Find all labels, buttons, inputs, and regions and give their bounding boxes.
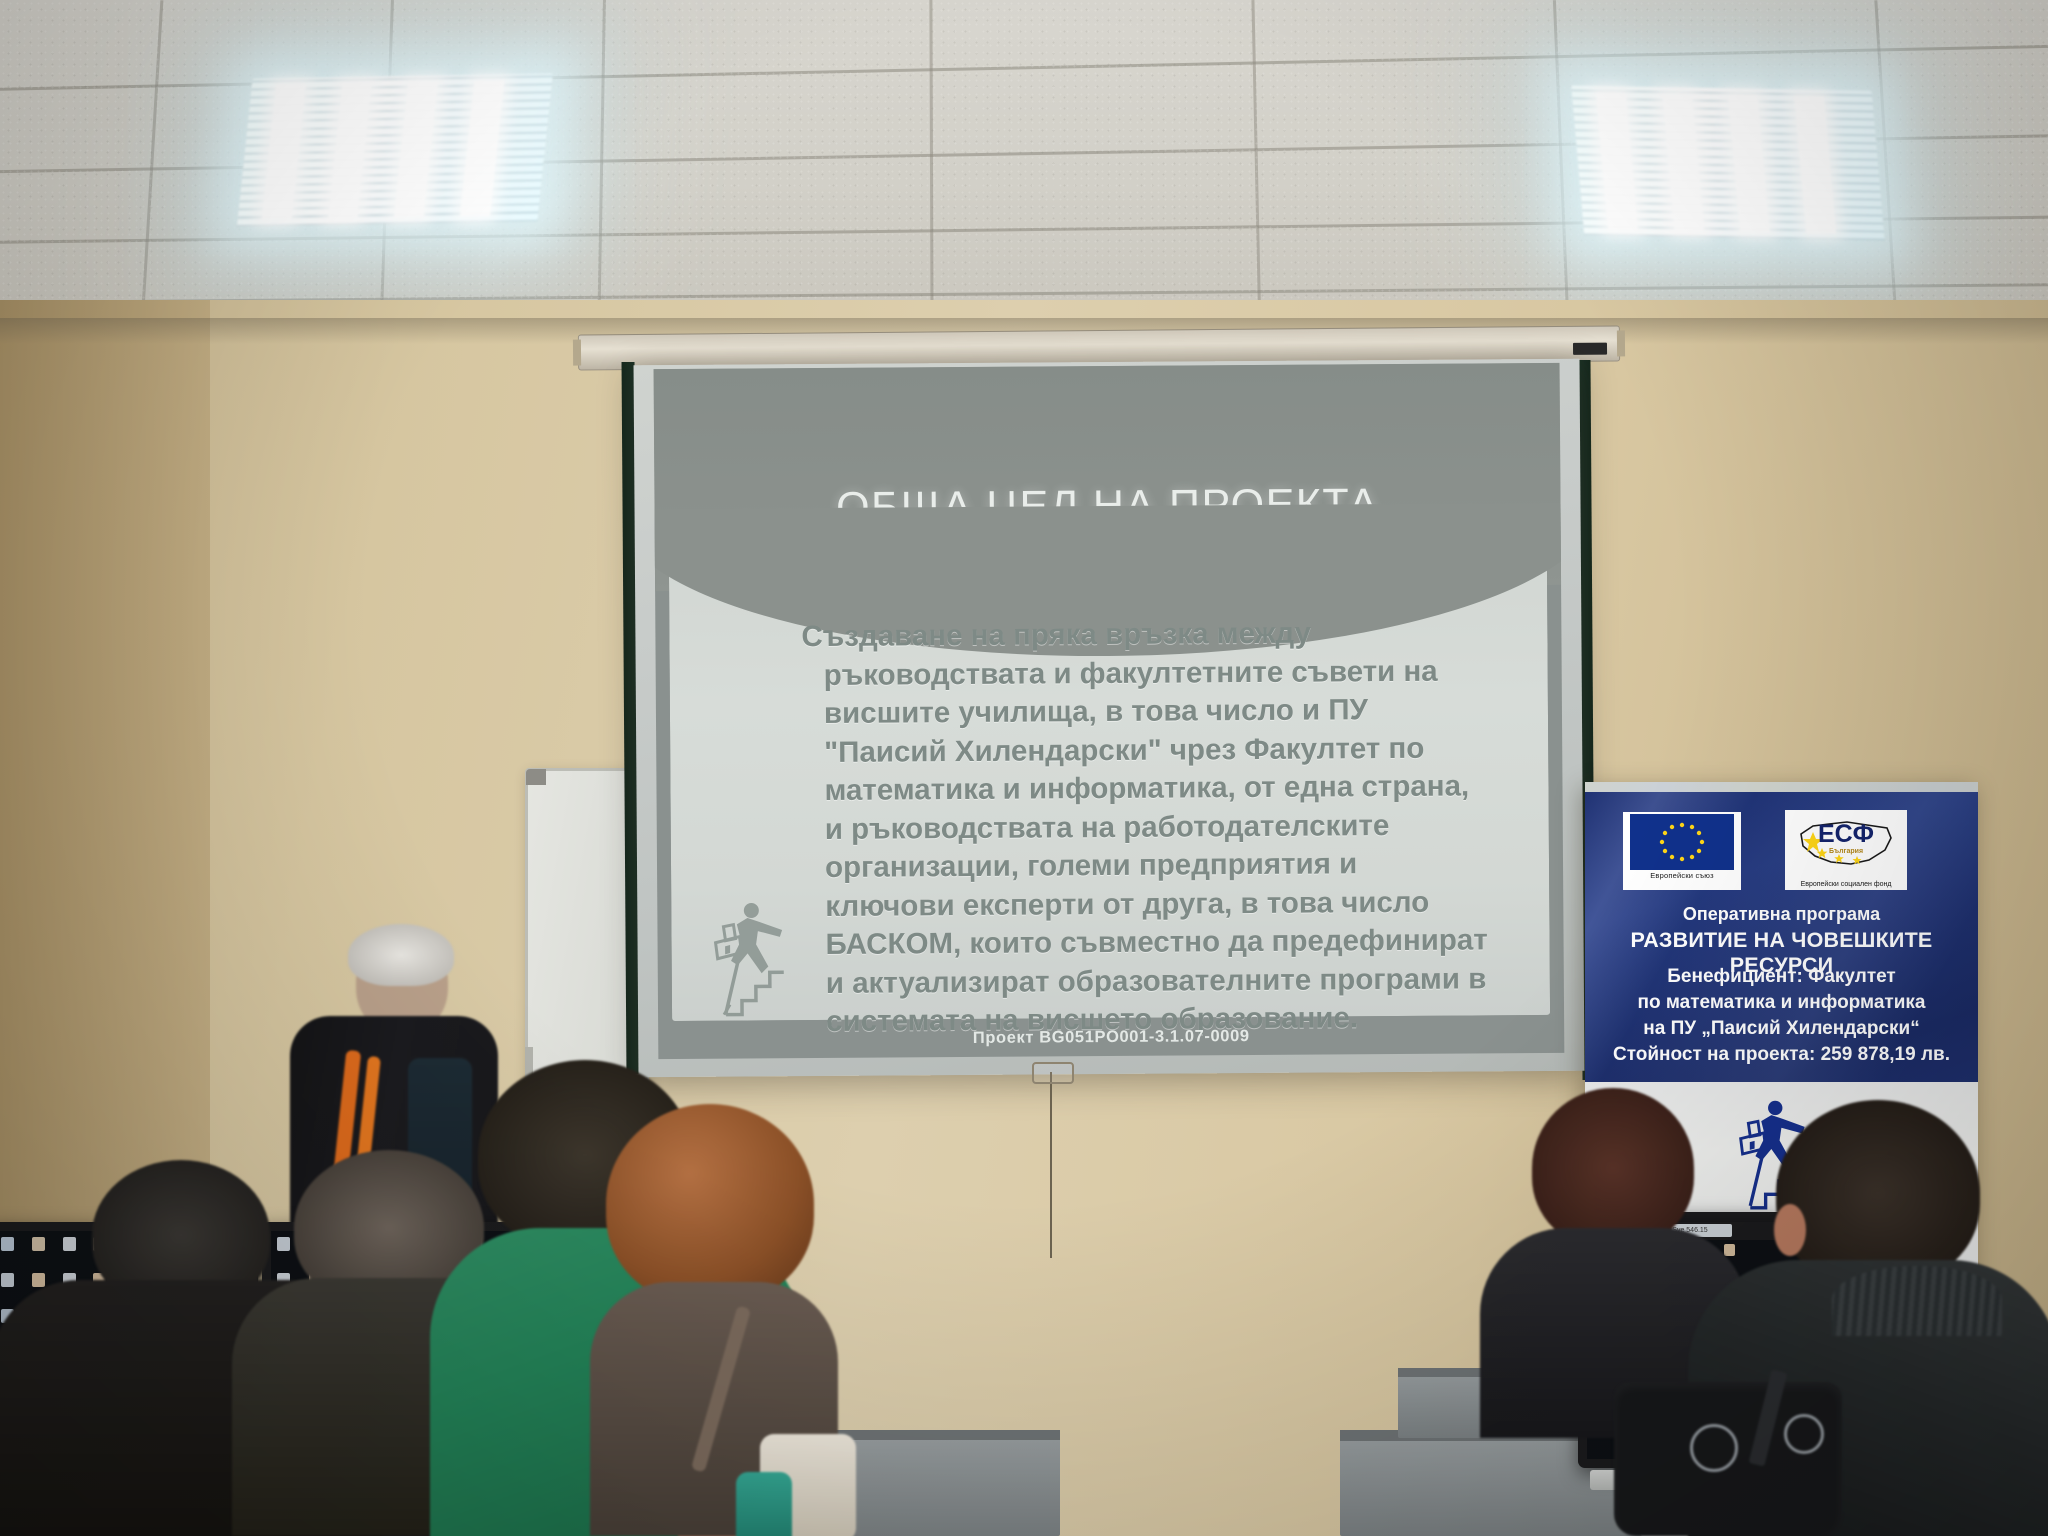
slide-line: "Паисий Хилендарски" чрез Факултет по [824, 729, 1536, 772]
projection-screen: ОБЩА ЦЕЛ НА ПРОЕКТА Създаване на пряка в… [634, 359, 1585, 1078]
esf-caption: Европейски социален фонд [1785, 881, 1907, 888]
slide-line: и актуализират образователните програми … [826, 960, 1538, 1003]
hrd-stairs-person-logo [707, 900, 808, 1017]
banner-program-label: Оперативна програма [1585, 904, 1978, 925]
whiteboard-corner [526, 769, 546, 785]
attendee-right-front-ear [1774, 1204, 1806, 1256]
attendee-right-front-head [1776, 1100, 1980, 1286]
ceiling-light-left [237, 73, 553, 226]
attendee-right-back-head [1532, 1088, 1694, 1248]
slide-line: и ръководствата на работодателските [825, 806, 1537, 849]
screen-pull-cord[interactable] [1050, 1072, 1052, 1258]
bag-ring [1784, 1414, 1824, 1454]
slide-line: ръководствата и факултетните съвети на [824, 652, 1536, 695]
attendee-right-front-collar [1832, 1266, 2002, 1336]
lecture-room-photo: ОБЩА ЦЕЛ НА ПРОЕКТА Създаване на пряка в… [0, 0, 2048, 1536]
eu-flag-field [1630, 814, 1734, 870]
roller-brand-label [1573, 343, 1607, 355]
ceiling [0, 0, 2048, 330]
roller-bracket-right [1617, 330, 1625, 356]
slide-line: висшите училища, в това число и ПУ [824, 690, 1536, 733]
esf-acronym: ЕСФ [1785, 820, 1907, 849]
slide-line: математика и информатика, от една страна… [824, 767, 1536, 810]
esf-logo: ЕСФ България Европейски социален фонд [1785, 810, 1907, 890]
slide-line: организации, големи предприятия и [825, 844, 1537, 887]
attendee-curly-red-hair-head [606, 1104, 814, 1304]
attendee-curly-red-hair [596, 1104, 846, 1536]
esf-subtitle: България [1785, 848, 1907, 855]
slide-line: Създаване на пряка връзка между [801, 613, 1535, 657]
attendee-teal-pouch [736, 1472, 792, 1536]
screen-pull-handle[interactable] [1032, 1062, 1074, 1084]
slide-footer-code: Проект BG051PO001-3.1.07-0009 [658, 1025, 1564, 1050]
banner-project-value: Стойност на проекта: 259 878,19 лв. [1585, 1044, 1978, 1066]
eu-flag-logo: Европейски съюз [1623, 812, 1741, 890]
bag-ring [1690, 1424, 1738, 1472]
presenter-hair [348, 924, 454, 986]
slide-line: ключови експерти от друга, в това число [825, 883, 1537, 926]
slide-body-text: Създаване на пряка връзка между ръководс… [823, 613, 1538, 1041]
ceiling-light-right [1571, 85, 1885, 240]
eu-flag-caption: Европейски съюз [1650, 871, 1714, 880]
banner-beneficiary-line-3: на ПУ „Паисий Хилендарски“ [1585, 1018, 1978, 1040]
banner-beneficiary-line-2: по математика и информатика [1585, 992, 1978, 1014]
banner-beneficiary-line-1: Бенефициент: Факултет [1585, 966, 1978, 988]
projected-slide: ОБЩА ЦЕЛ НА ПРОЕКТА Създаване на пряка в… [654, 363, 1565, 1059]
slide-line: БАСКОМ, които съвместно да предефинират [825, 921, 1537, 964]
roller-bracket-left [573, 340, 581, 366]
